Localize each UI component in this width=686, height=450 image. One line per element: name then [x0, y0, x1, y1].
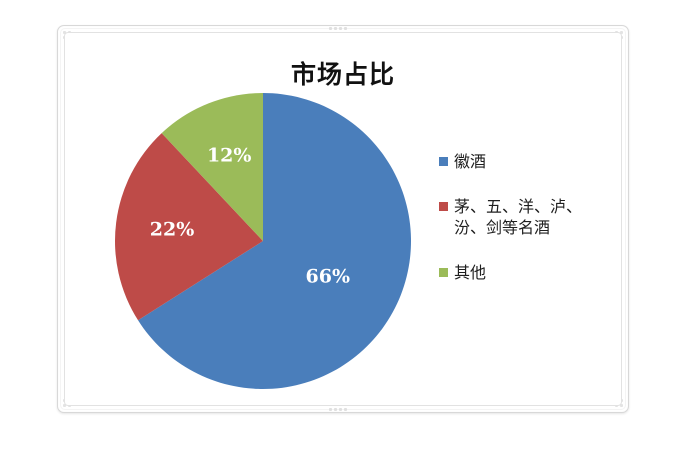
chart-inner-border: 市场占比 66%22%12% 徽酒 茅、五、洋、泸、汾、剑等名酒: [64, 32, 622, 406]
legend-swatch-icon-2: [439, 268, 448, 277]
legend-label-1: 茅、五、洋、泸、汾、剑等名酒: [454, 196, 604, 238]
chart-legend: 徽酒 茅、五、洋、泸、汾、剑等名酒 其他: [439, 151, 619, 283]
legend-item-2[interactable]: 其他: [439, 262, 619, 283]
pie-slice-group: [115, 93, 411, 389]
legend-item-1[interactable]: 茅、五、洋、泸、汾、剑等名酒: [439, 196, 619, 238]
legend-swatch-icon-0: [439, 157, 448, 166]
frame-dots-bottom: [329, 408, 347, 411]
pie-data-label-2: 12%: [207, 145, 252, 167]
legend-label-2: 其他: [454, 262, 486, 283]
pie-data-label-1: 22%: [150, 219, 195, 241]
pie-data-label-0: 66%: [306, 266, 351, 288]
frame-dots-top: [329, 27, 347, 30]
chart-picture-frame: 市场占比 66%22%12% 徽酒 茅、五、洋、泸、汾、剑等名酒: [57, 25, 629, 413]
pie-plot-area: 66%22%12%: [113, 91, 413, 391]
chart-title: 市场占比: [65, 55, 621, 91]
legend-swatch-icon-1: [439, 202, 448, 211]
pie-chart: 市场占比 66%22%12% 徽酒 茅、五、洋、泸、汾、剑等名酒: [65, 33, 621, 405]
legend-label-0: 徽酒: [454, 151, 486, 172]
legend-item-0[interactable]: 徽酒: [439, 151, 619, 172]
pie-svg: 66%22%12%: [113, 91, 413, 391]
